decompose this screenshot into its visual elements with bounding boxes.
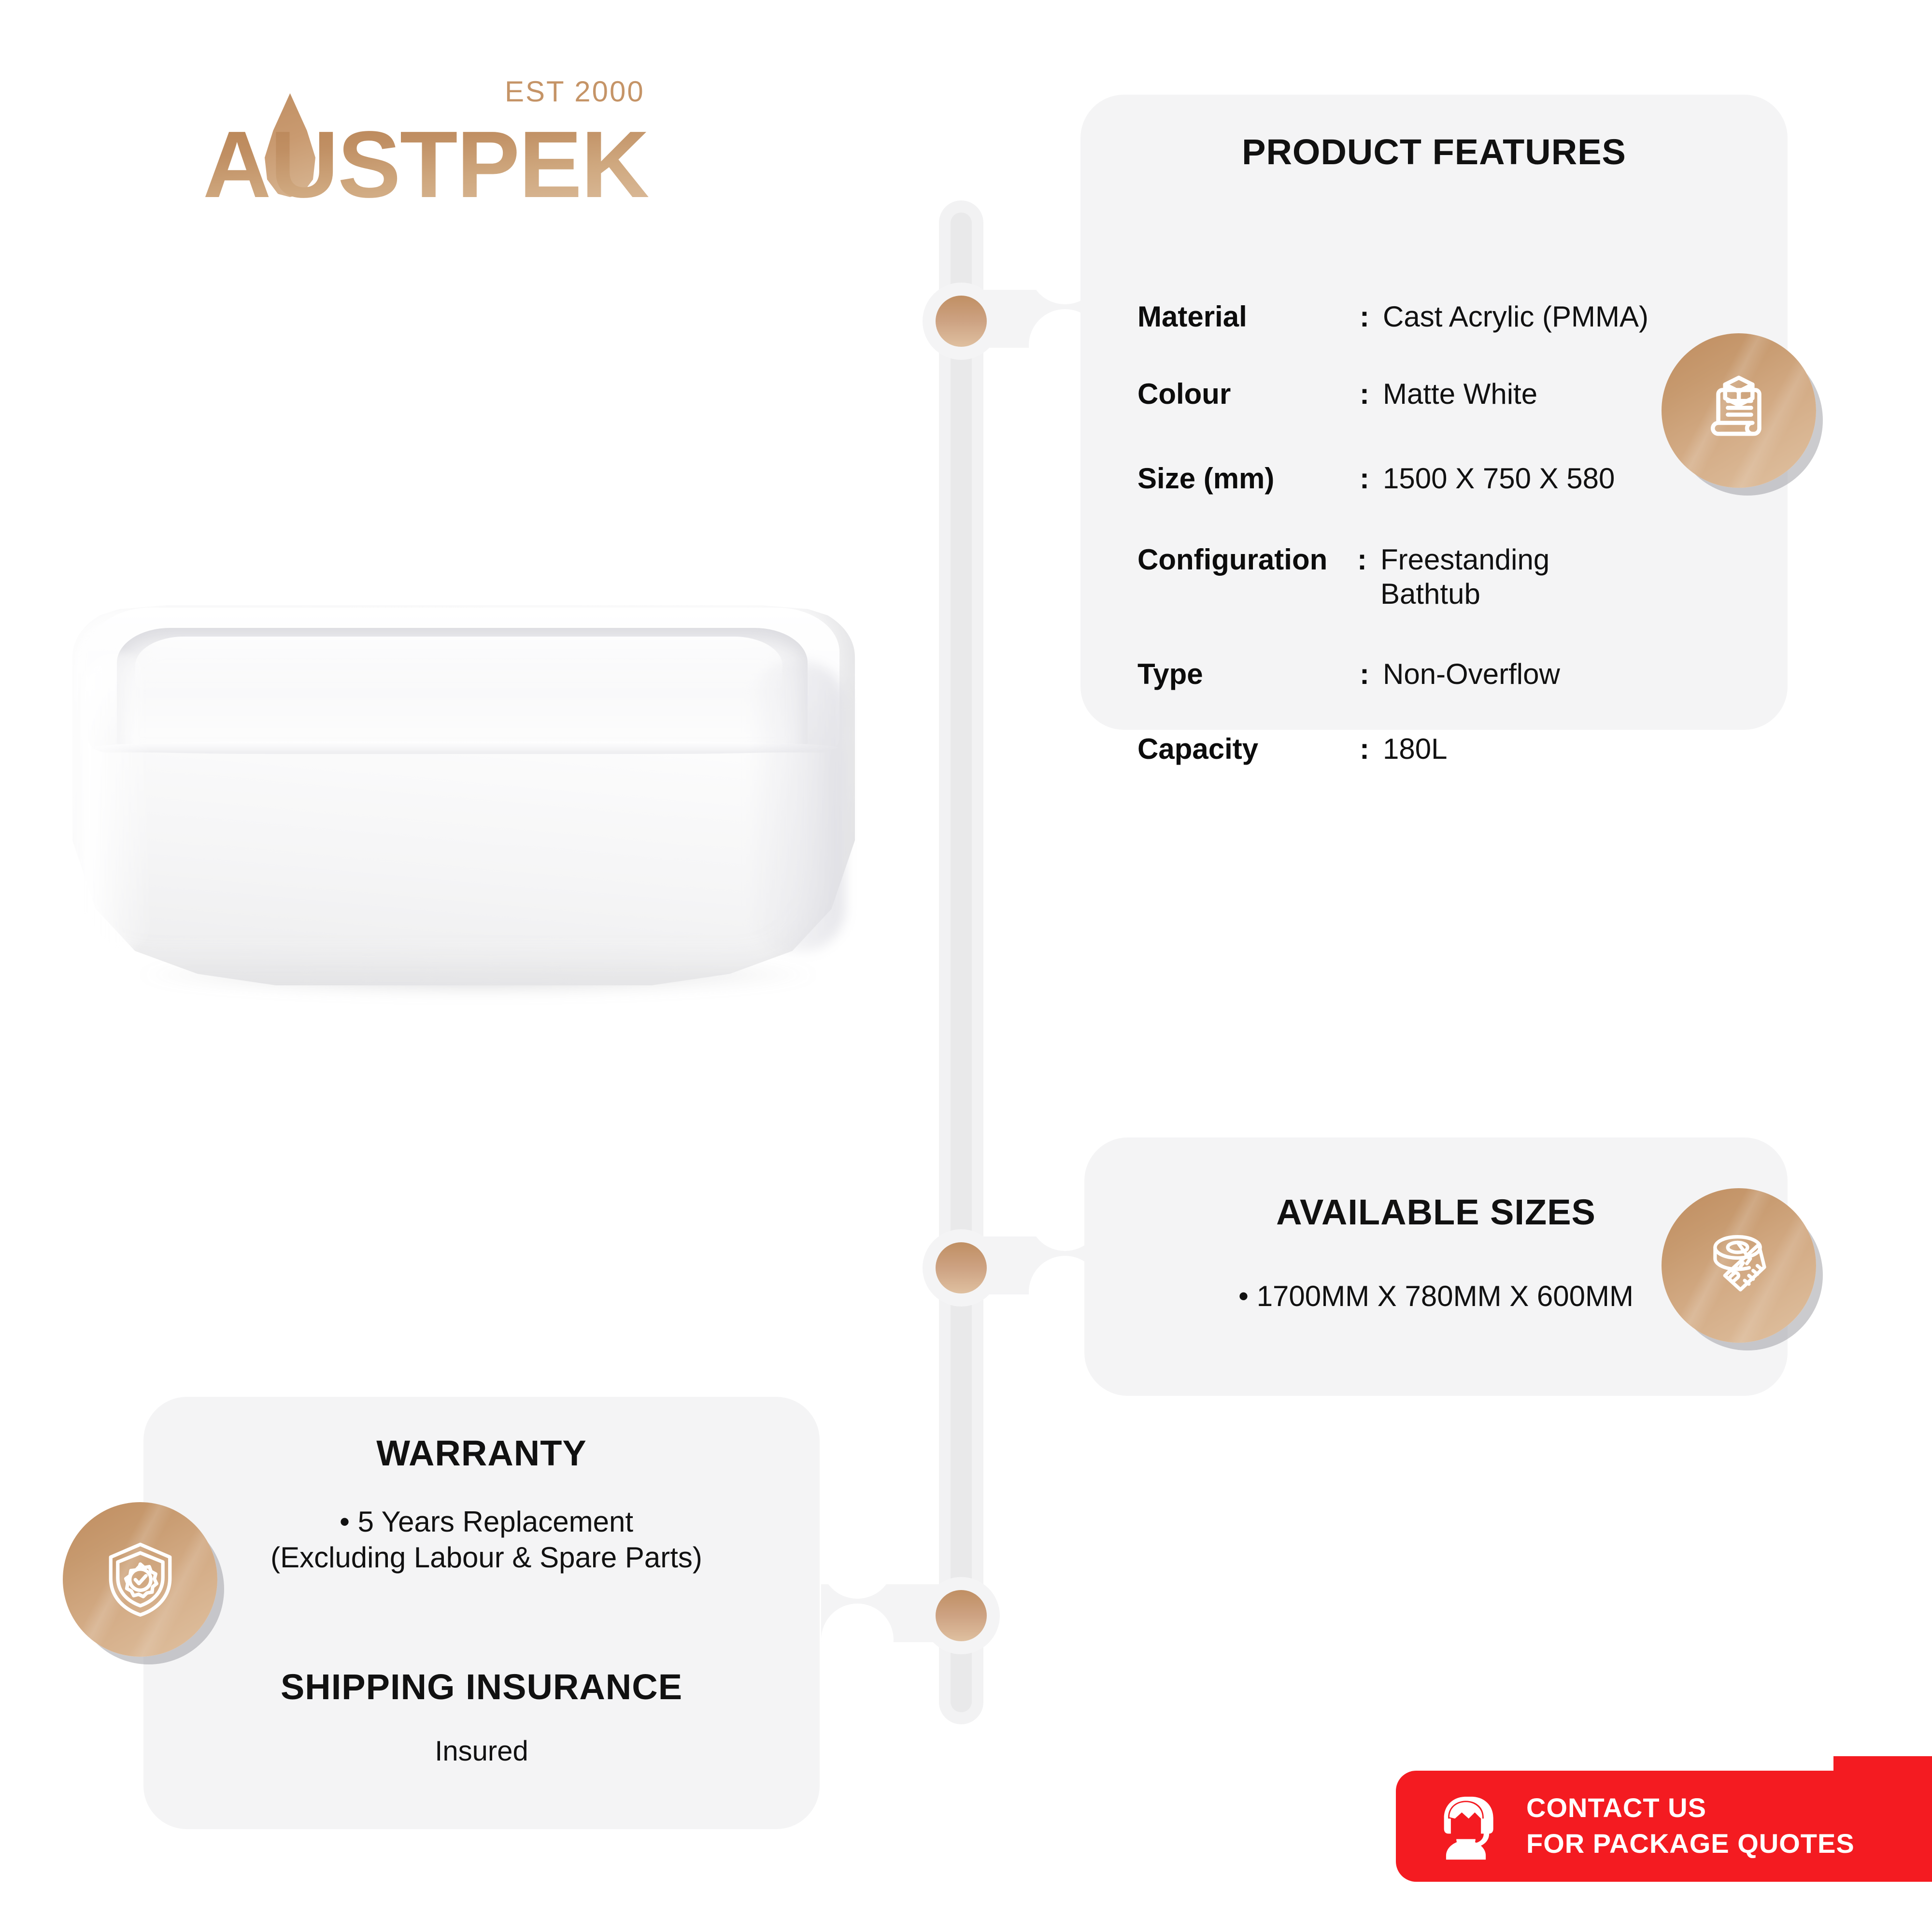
headset-support-icon (1425, 1787, 1507, 1869)
bathtub-rim-edge (91, 741, 838, 754)
bathtub-shade-right (749, 662, 845, 952)
timeline-node-dot (936, 1590, 987, 1641)
feature-separator: : (1360, 300, 1383, 333)
connector-notch-top-3 (821, 1526, 894, 1599)
shipping-insurance-title: SHIPPING INSURANCE (143, 1666, 820, 1707)
bathtub-highlight-left (82, 652, 155, 952)
feature-label: Configuration (1137, 543, 1357, 576)
feature-label: Material (1137, 300, 1360, 333)
feature-label: Capacity (1137, 732, 1360, 766)
timeline-node-features[interactable] (923, 283, 1000, 360)
feature-label: Size (mm) (1137, 462, 1360, 495)
connector-notch-bottom-3 (821, 1604, 894, 1676)
available-size-value: 1700MM X 780MM X 600MM (1257, 1280, 1634, 1312)
warranty-item: • 5 Years Replacement (Excluding Labour … (269, 1504, 704, 1576)
contact-banner-text: CONTACT US FOR PACKAGE QUOTES (1526, 1790, 1855, 1861)
bullet-dot: • (340, 1506, 358, 1538)
feature-separator: : (1360, 657, 1383, 691)
warranty-title: WARRANTY (143, 1433, 820, 1474)
timeline-node-dot (936, 296, 987, 347)
feature-row-colour: Colour : Matte White (1137, 377, 1732, 412)
infographic-canvas: EST 2000 AUSTPEK PRODUCT FEATURES (0, 0, 1932, 1932)
feature-separator: : (1360, 377, 1383, 411)
feature-separator: : (1357, 543, 1380, 576)
feature-value: Non-Overflow (1383, 657, 1732, 692)
warranty-card: WARRANTY • 5 Years Replacement (Excludin… (143, 1397, 820, 1829)
feature-row-type: Type : Non-Overflow (1137, 657, 1732, 692)
warranty-item-text: 5 Years Replacement (Excluding Labour & … (270, 1506, 702, 1574)
shield-check-badge-icon (63, 1502, 217, 1657)
timeline-rail-core (951, 213, 972, 1712)
bathtub-product-image (53, 594, 894, 1009)
product-features-title: PRODUCT FEATURES (1080, 131, 1788, 172)
feature-row-material: Material : Cast Acrylic (PMMA) (1137, 300, 1732, 334)
timeline-node-sizes[interactable] (923, 1229, 1000, 1307)
brand-logo: EST 2000 AUSTPEK (203, 89, 782, 234)
bullet-dot: • (1238, 1280, 1257, 1312)
feature-row-capacity: Capacity : 180L (1137, 732, 1732, 767)
feature-label: Type (1137, 657, 1360, 691)
brand-established-text: EST 2000 (505, 75, 645, 108)
spec-sheet-box-icon (1662, 333, 1816, 488)
contact-banner-line2: FOR PACKAGE QUOTES (1526, 1826, 1855, 1861)
contact-banner-line1: CONTACT US (1526, 1790, 1855, 1826)
feature-value: 180L (1383, 732, 1732, 767)
timeline-node-dot (936, 1242, 987, 1293)
feature-value: Freestanding Bathtub (1380, 543, 1588, 611)
feature-separator: : (1360, 732, 1383, 766)
feature-separator: : (1360, 462, 1383, 495)
feature-value: 1500 X 750 X 580 (1383, 462, 1732, 496)
feature-row-configuration: Configuration : Freestanding Bathtub (1137, 543, 1732, 611)
feature-label: Colour (1137, 377, 1360, 411)
shipping-insurance-value: Insured (143, 1735, 820, 1767)
timeline-node-warranty[interactable] (923, 1577, 1000, 1654)
feature-row-size: Size (mm) : 1500 X 750 X 580 (1137, 462, 1732, 496)
brand-wordmark: AUSTPEK (203, 117, 649, 212)
bathtub-interior-highlight (135, 637, 782, 695)
measuring-tape-icon (1662, 1188, 1816, 1343)
feature-value: Cast Acrylic (PMMA) (1383, 300, 1732, 334)
